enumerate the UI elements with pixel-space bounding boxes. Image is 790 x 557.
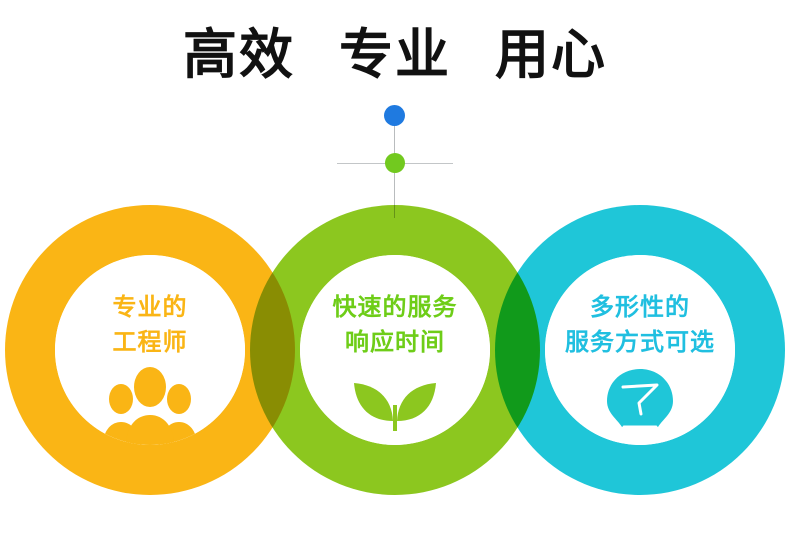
title-segment-3: 用心 [495, 28, 607, 82]
circle-content-professional-engineers[interactable]: 专业的 工程师 [55, 255, 245, 445]
circle-label-professional-engineers: 专业的 工程师 [55, 291, 245, 361]
title-segment-2: 专业 [339, 28, 451, 82]
circle-label-line: 多形性的 [545, 291, 735, 326]
circle-label-polymorphic-service-options: 多形性的 服务方式可选 [545, 291, 735, 361]
horizontal-connector-line [337, 163, 453, 164]
sprout-leaf-icon [300, 365, 490, 445]
venn-diagram: 专业的 工程师 快 [0, 205, 790, 505]
vertical-connector-line [394, 118, 395, 218]
green-dot-icon [385, 153, 405, 173]
circle-content-fast-service-response[interactable]: 快速的服务 响应时间 [300, 255, 490, 445]
circle-label-line: 响应时间 [300, 326, 490, 361]
circle-label-line: 工程师 [55, 326, 245, 361]
circle-label-fast-service-response: 快速的服务 响应时间 [300, 291, 490, 361]
infographic-canvas: 高效专业用心 专业的 工程师 [0, 0, 790, 557]
circle-label-line: 专业的 [55, 291, 245, 326]
page-title: 高效专业用心 [0, 28, 790, 82]
circle-label-line: 快速的服务 [300, 291, 490, 326]
people-team-icon [55, 365, 245, 445]
circle-label-line: 服务方式可选 [545, 326, 735, 361]
lightbulb-icon [545, 365, 735, 445]
circle-content-polymorphic-service-options[interactable]: 多形性的 服务方式可选 [545, 255, 735, 445]
blue-dot-icon [384, 105, 405, 126]
title-segment-1: 高效 [183, 28, 295, 82]
